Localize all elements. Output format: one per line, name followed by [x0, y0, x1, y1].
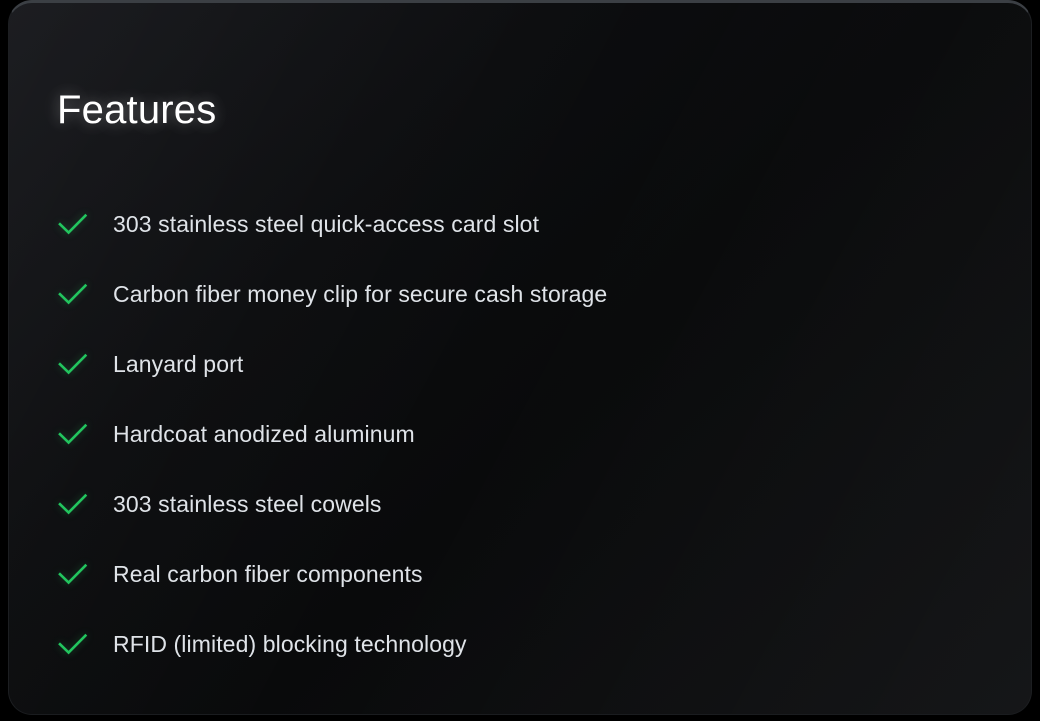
page-root: Features 303 stainless steel quick-acces… [0, 0, 1040, 721]
check-icon [57, 631, 89, 657]
list-item-label: 303 stainless steel cowels [113, 490, 382, 519]
list-item-label: 303 stainless steel quick-access card sl… [113, 210, 539, 239]
check-icon [57, 561, 89, 587]
features-card: Features 303 stainless steel quick-acces… [8, 0, 1032, 715]
list-item-label: Carbon fiber money clip for secure cash … [113, 280, 607, 309]
check-icon [57, 211, 89, 237]
check-icon [57, 421, 89, 447]
features-list: 303 stainless steel quick-access card sl… [57, 189, 987, 679]
page-title: Features [57, 88, 216, 132]
list-item: 303 stainless steel cowels [57, 469, 987, 539]
list-item: 303 stainless steel quick-access card sl… [57, 189, 987, 259]
list-item-label: Hardcoat anodized aluminum [113, 420, 415, 449]
list-item: RFID (limited) blocking technology [57, 609, 987, 679]
list-item-label: Lanyard port [113, 350, 243, 379]
list-item: Lanyard port [57, 329, 987, 399]
list-item-label: Real carbon fiber components [113, 560, 423, 589]
list-item: Hardcoat anodized aluminum [57, 399, 987, 469]
list-item: Carbon fiber money clip for secure cash … [57, 259, 987, 329]
check-icon [57, 491, 89, 517]
check-icon [57, 281, 89, 307]
list-item: Real carbon fiber components [57, 539, 987, 609]
check-icon [57, 351, 89, 377]
list-item-label: RFID (limited) blocking technology [113, 630, 467, 659]
